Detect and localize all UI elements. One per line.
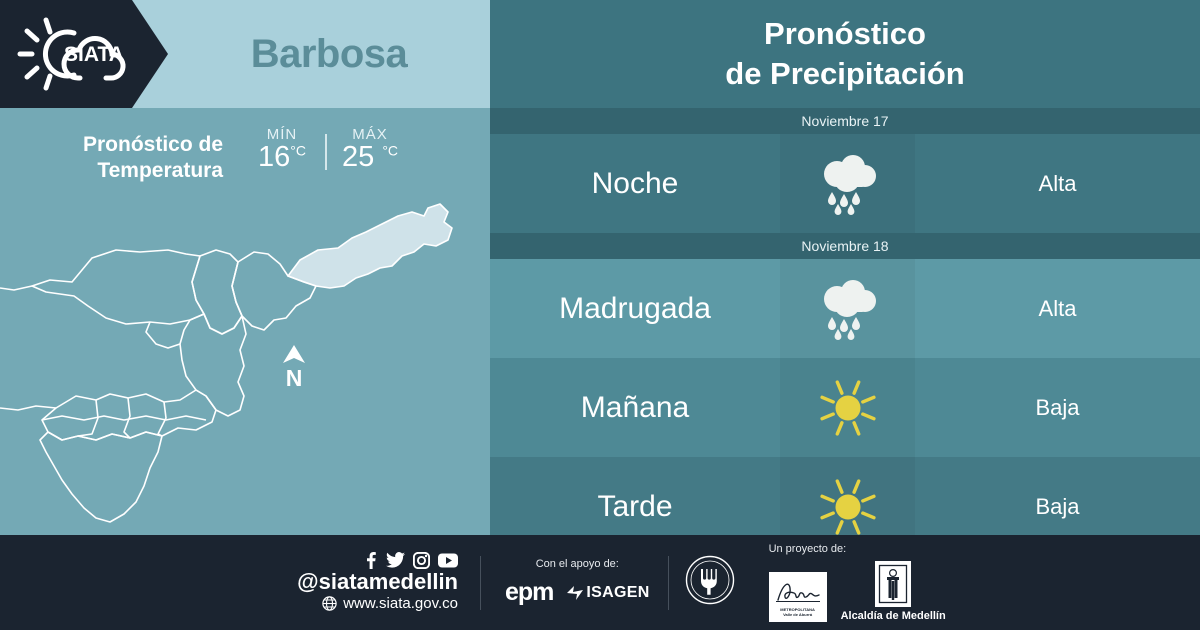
project-logos: METROPOLITANA Valle de Aburrá Alcaldía d… — [769, 561, 946, 622]
alcaldia-crest — [875, 561, 911, 607]
youtube-icon[interactable] — [438, 553, 458, 568]
left-header: SIATA Barbosa — [0, 0, 490, 108]
temperature-title: Pronóstico de Temperatura — [83, 120, 223, 185]
social-handle[interactable]: @siatamedellin — [297, 570, 458, 595]
sun-icon — [816, 475, 880, 539]
alcaldia-label: Alcaldía de Medellín — [841, 610, 946, 622]
map-region-bello — [32, 250, 204, 324]
temperature-title-line2: Temperatura — [83, 158, 223, 184]
rain-cloud-icon — [813, 152, 883, 216]
forecast-row: Madrugada Alta — [490, 259, 1200, 358]
temperature-min: MÍN 16°C — [245, 126, 319, 174]
left-body: Pronóstico de Temperatura MÍN 16°C MÁX — [0, 108, 490, 535]
forecast-period: Tarde — [490, 490, 780, 524]
globe-icon — [322, 596, 337, 611]
forecast-level: Alta — [915, 296, 1200, 322]
forecast-icon-cell — [780, 259, 915, 358]
map-region-west-edge — [0, 286, 32, 290]
temperature-min-value: 16°C — [258, 141, 306, 174]
social-icons — [363, 552, 458, 569]
forecast-level: Baja — [915, 395, 1200, 421]
area-metropolitana-logo: METROPOLITANA Valle de Aburrá — [769, 572, 827, 622]
isagen-logo: ISAGEN — [567, 584, 649, 602]
instagram-icon[interactable] — [413, 552, 430, 569]
footer: @siatamedellin www.siata.gov.co Con el a… — [0, 535, 1200, 630]
page-title: Barbosa — [168, 0, 490, 108]
support-caption: Con el apoyo de: — [536, 558, 619, 570]
map-region-sabaneta — [124, 398, 130, 438]
temperature-max-value: 25 °C — [342, 141, 398, 174]
weather-forecast-card: SIATA Barbosa Pronóstico de Temperatura … — [0, 0, 1200, 630]
support-block: Con el apoyo de: epm ISAGEN — [481, 558, 668, 607]
map-region-spine — [146, 322, 180, 348]
forecast-list: Noviembre 17Noche AltaNoviembre 18Madrug… — [490, 108, 1200, 556]
siata-logo-text: SIATA — [64, 43, 124, 66]
forecast-period: Mañana — [490, 391, 780, 425]
forecast-period: Noche — [490, 167, 780, 201]
forecast-level: Baja — [915, 494, 1200, 520]
left-panel: SIATA Barbosa Pronóstico de Temperatura … — [0, 0, 490, 535]
isagen-mark-icon — [567, 586, 583, 600]
area-logo-sub: METROPOLITANA Valle de Aburrá — [780, 607, 815, 617]
project-caption: Un proyecto de: — [769, 543, 847, 555]
alcaldia-crest-icon — [878, 564, 908, 604]
temperature-min-number: 16 — [258, 141, 290, 173]
medellin-seal-icon — [685, 555, 735, 605]
forecast-period: Madrugada — [490, 292, 780, 326]
compass: N — [276, 344, 312, 396]
forecast-level: Alta — [915, 171, 1200, 197]
sun-icon — [816, 376, 880, 440]
temperature-block: Pronóstico de Temperatura MÍN 16°C MÁX — [0, 120, 490, 194]
project-block: Un proyecto de: METROPOLITANA Valle de A… — [751, 543, 946, 622]
map-region-medellin — [180, 314, 246, 416]
temperature-values: MÍN 16°C MÁX 25 °C — [245, 120, 407, 174]
epm-logo: epm — [505, 578, 553, 607]
website-row[interactable]: www.siata.gov.co — [322, 595, 458, 613]
sun-cloud-icon: SIATA — [14, 14, 132, 94]
temperature-max-unit: °C — [382, 142, 398, 158]
compass-label: N — [286, 367, 303, 390]
area-script-mark — [773, 577, 823, 607]
forecast-row: Mañana Baja — [490, 358, 1200, 457]
forecast-icon-cell — [780, 358, 915, 457]
seal-block — [669, 555, 751, 610]
temperature-max-number: 25 — [342, 141, 374, 173]
support-logos: epm ISAGEN — [505, 578, 650, 607]
map-region-copacabana — [192, 250, 242, 334]
temperature-title-line1: Pronóstico de — [83, 132, 223, 158]
map-region-divider-h — [42, 416, 206, 420]
forecast-date-bar: Noviembre 17 — [490, 108, 1200, 134]
temperature-divider — [325, 134, 327, 170]
municipality-map: N — [0, 194, 490, 535]
alcaldia-medellin-logo: Alcaldía de Medellín — [841, 561, 946, 622]
map-region-barbosa — [288, 204, 452, 288]
precipitation-title-line2: de Precipitación — [725, 54, 964, 94]
area-logo-sub2: Valle de Aburrá — [780, 612, 815, 617]
map-region-west-edge-2 — [0, 406, 56, 410]
social-block: @siatamedellin www.siata.gov.co — [0, 552, 480, 613]
precipitation-title: Pronóstico de Precipitación — [490, 0, 1200, 108]
forecast-date-bar: Noviembre 18 — [490, 233, 1200, 259]
website-text: www.siata.gov.co — [343, 595, 458, 613]
forecast-icon-cell — [780, 134, 915, 233]
map-region-caldas — [40, 432, 162, 522]
aburra-valley-map-svg — [0, 194, 490, 535]
logo-wedge: SIATA — [0, 0, 168, 108]
isagen-wordmark: ISAGEN — [586, 584, 649, 602]
twitter-icon[interactable] — [386, 552, 405, 569]
temperature-min-unit: °C — [290, 142, 306, 158]
precipitation-title-line1: Pronóstico — [764, 14, 926, 54]
temperature-max: MÁX 25 °C — [333, 126, 407, 174]
precipitation-panel: Pronóstico de Precipitación Noviembre 17… — [490, 0, 1200, 535]
map-region-itagui — [42, 390, 216, 440]
rain-cloud-icon — [813, 277, 883, 341]
forecast-row: Noche Alta — [490, 134, 1200, 233]
facebook-icon[interactable] — [363, 552, 378, 569]
